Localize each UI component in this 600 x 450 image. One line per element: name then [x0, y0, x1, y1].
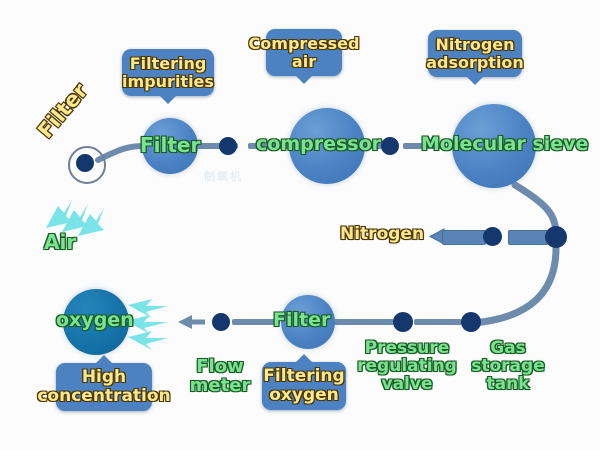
flow-meter-label-line-2: meter — [186, 377, 254, 396]
prv-label-line-2: regulating — [352, 358, 462, 376]
callout-line-1: High — [82, 368, 126, 387]
air-inlet-port[interactable] — [76, 154, 94, 172]
callout-line-1: Filtering — [130, 55, 207, 73]
callout-line-2: adsorption — [426, 54, 524, 72]
prv-label-line-3: valve — [352, 376, 462, 394]
air-label: Air — [44, 232, 76, 253]
callout-tail — [159, 95, 177, 104]
callout-tail — [295, 75, 313, 84]
tank-label-line-2: storage — [466, 358, 550, 376]
callout-line-1: Filtering — [263, 367, 344, 386]
node-pressure-regulating-valve[interactable] — [393, 312, 413, 332]
callout-filtering-impurities[interactable]: Filtering impurities — [122, 49, 214, 96]
node-valve-1[interactable] — [219, 137, 237, 155]
callout-nitrogen-adsorption[interactable]: Nitrogen adsorption — [428, 30, 522, 77]
node-valve-2[interactable] — [381, 137, 399, 155]
node-molecular-sieve-label: Molecular sieve — [421, 135, 588, 155]
pressure-regulating-valve-label: Pressure regulating valve — [352, 340, 462, 394]
callout-line-2: oxygen — [269, 386, 339, 405]
pipe-nitrogen-left — [442, 230, 486, 245]
callout-filtering-oxygen[interactable]: Filtering oxygen — [262, 362, 346, 410]
nitrogen-label: Nitrogen — [340, 226, 424, 244]
callout-tail — [295, 354, 313, 363]
callout-tail — [95, 355, 113, 364]
inlet-filter-label: Filter — [34, 79, 92, 142]
node-filter-label: Filter — [140, 135, 200, 156]
node-oxygen-label: oxygen — [56, 311, 134, 331]
callout-line-1: Nitrogen — [435, 36, 514, 54]
watermark: 制氧机 — [204, 168, 243, 184]
pipe-nitrogen-right — [508, 230, 548, 245]
tank-label-line-3: tank — [466, 376, 550, 394]
pipe-valve-to-tank — [414, 319, 462, 325]
node-filter-2-label: Filter — [273, 311, 330, 331]
gas-storage-tank-label: Gas storage tank — [466, 340, 550, 394]
callout-compressed-air[interactable]: Compressed air — [266, 29, 342, 76]
flow-meter-label: Flow meter — [186, 358, 254, 396]
node-nitrogen-valve[interactable] — [483, 227, 502, 246]
callout-line-2: impurities — [122, 73, 214, 91]
node-flow-meter[interactable] — [212, 313, 230, 331]
pipe-filter2-to-valve — [332, 319, 394, 325]
callout-line-2: air — [292, 53, 316, 71]
node-nitrogen-outlet[interactable] — [545, 226, 567, 248]
callout-line-1: Compressed — [249, 35, 360, 53]
node-gas-storage-tank[interactable] — [461, 312, 481, 332]
callout-high-concentration[interactable]: High concentration — [56, 363, 152, 411]
process-flow-diagram: Filter compressor Molecular sieve Filter… — [0, 0, 600, 450]
callout-line-2: concentration — [37, 387, 170, 406]
pipe-nitrogen-to-bottom — [473, 248, 556, 323]
node-compressor-label: compressor — [256, 135, 381, 155]
callout-tail — [466, 76, 484, 85]
